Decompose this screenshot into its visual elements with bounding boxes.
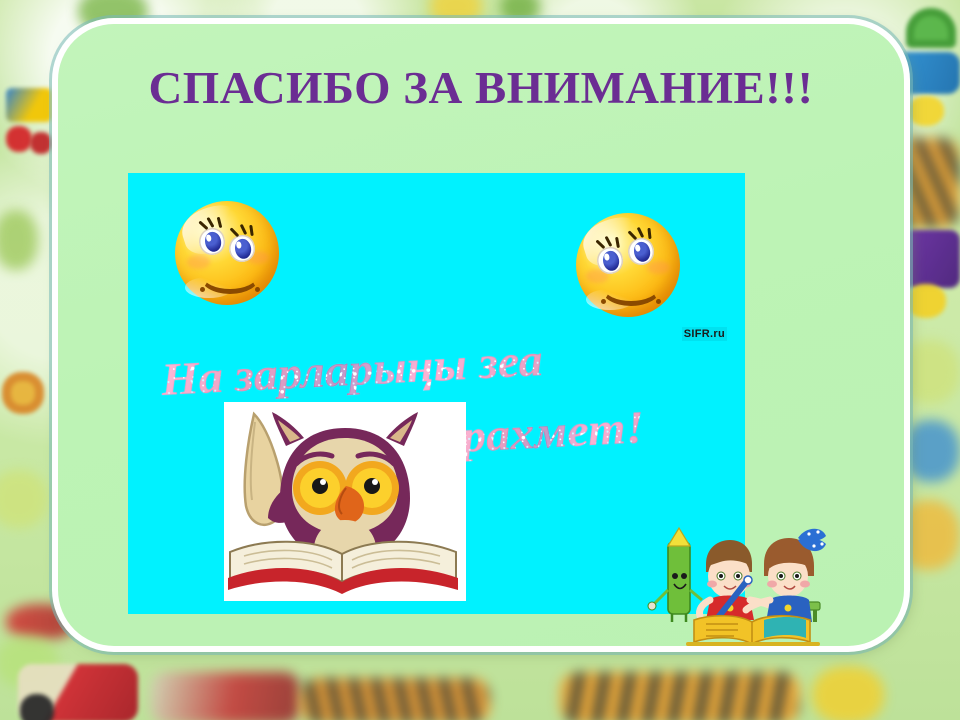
toy-train-left [6, 88, 52, 122]
toy-trike-wheel [20, 694, 54, 720]
slide-panel: СПАСИБО ЗА ВНИМАНИЕ!!! [58, 24, 904, 646]
smiley-eyelash [249, 225, 253, 236]
owl-illustration-box [224, 402, 466, 601]
toy-wheel-left-b [30, 132, 52, 154]
smiley-face-right-icon [576, 213, 680, 317]
toy-tiger-bottom-mid [300, 678, 490, 720]
toy-blob-left-mid [0, 210, 38, 270]
toy-wheel-right-a [908, 96, 944, 126]
toy-ball-left-lower [0, 470, 48, 528]
smiley-mouth [601, 270, 661, 306]
smiley-mouth [200, 258, 260, 294]
owl-teacher-icon [224, 402, 466, 601]
glitter-text-line-2: рахмет! [460, 400, 645, 462]
green-crayon-character [648, 528, 702, 622]
toy-ball-bottom-right [812, 666, 884, 720]
smiley-iris-left [203, 230, 223, 253]
smiley-eyelash [647, 227, 651, 238]
children-reading-illustration [646, 520, 896, 646]
smiley-iris-right [632, 240, 652, 263]
toy-wheel-left-a [6, 126, 32, 152]
slide-canvas: СПАСИБО ЗА ВНИМАНИЕ!!! [0, 0, 960, 720]
toy-tiger-bottom-right [560, 672, 800, 720]
toy-motorbike-bottom [150, 672, 300, 720]
watermark-label: SIFR.ru [682, 327, 727, 341]
page-title: СПАСИБО ЗА ВНИМАНИЕ!!! [58, 62, 904, 114]
toy-ring-left [2, 372, 44, 414]
smiley-face-left-icon [175, 201, 279, 305]
glitter-text-line-1: На зарларыңы зеа [160, 333, 544, 406]
